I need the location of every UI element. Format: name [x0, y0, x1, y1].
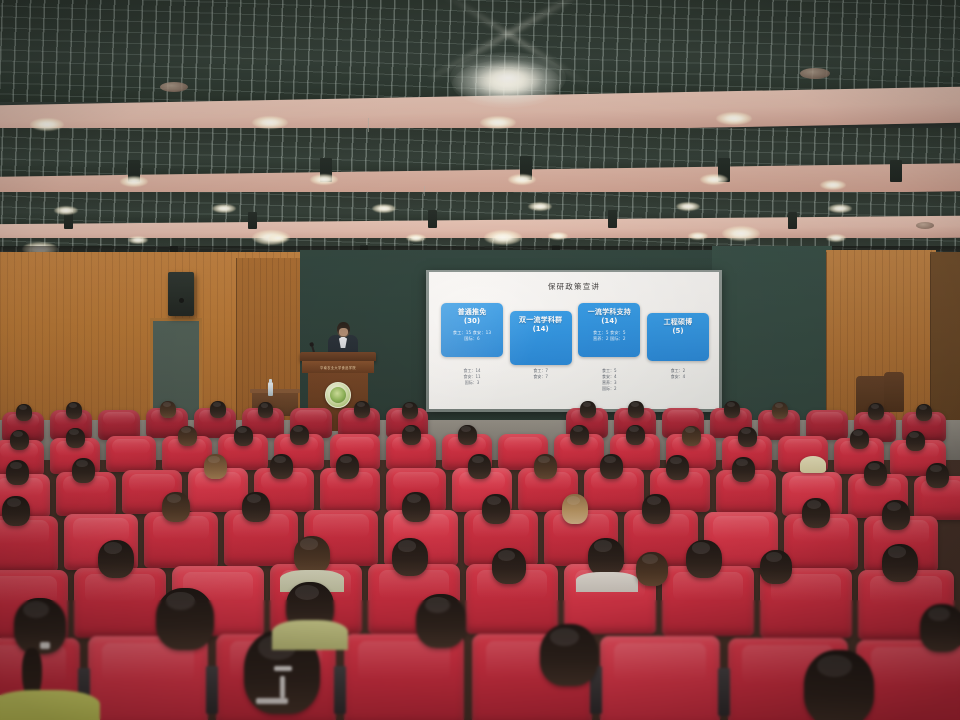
audience-head — [642, 494, 670, 524]
seat-armrest — [206, 666, 218, 714]
audience-head — [162, 492, 190, 522]
audience-head — [636, 552, 668, 586]
audience-head — [294, 536, 330, 574]
audience-head — [804, 650, 874, 720]
audience-head — [686, 540, 722, 578]
slide-box-detail: 食工：15 食安：13 国际：6 — [444, 330, 500, 342]
audience-head — [402, 402, 418, 419]
audience-head — [160, 401, 176, 418]
audience-head — [882, 544, 918, 582]
audience-head — [258, 402, 273, 418]
slide-box-yiliuzhichi: 一流学科支持 (14) 食工：5 食安：5 营养：2 国际：2 — [578, 303, 640, 357]
seat[interactable] — [600, 636, 720, 720]
seat[interactable] — [106, 436, 156, 472]
slide-box-title: 双一流学科群 — [513, 316, 569, 325]
audience-head — [920, 604, 960, 652]
audience-head — [402, 492, 430, 522]
slide-detail-3: 食工：5 食安：4 营养：3 国际：2 — [578, 368, 640, 392]
slide-box-row: 普通推免 (30) 食工：15 食安：13 国际：6 双一流学科群 (14) 一… — [441, 303, 709, 365]
audience-head — [72, 458, 95, 483]
slide-box-detail: 食工：5 食安：5 营养：2 国际：2 — [581, 330, 637, 342]
audience-head — [354, 401, 370, 418]
ceiling-vent-icon — [800, 68, 830, 79]
audience-head — [492, 548, 526, 584]
wall-mounted-loudspeaker — [168, 272, 194, 316]
audience-head — [626, 425, 645, 445]
ceiling-beam — [520, 156, 532, 180]
slide-detail-4: 食工：2 食安：4 — [647, 368, 709, 392]
audience-head — [600, 454, 623, 479]
audience-head — [6, 460, 29, 485]
pendant-stem — [424, 186, 425, 196]
seat[interactable] — [74, 568, 166, 638]
projection-screen: 保研政策宣讲 普通推免 (30) 食工：15 食安：13 国际：6 双一流学科群… — [429, 272, 719, 409]
audience-head — [392, 538, 428, 576]
slide-box-gongchengshuobo: 工程硕博 (5) — [647, 313, 709, 361]
audience-head — [628, 401, 644, 418]
podium-text: 华南农业大学食品学院 — [320, 365, 356, 370]
slide-box-title: 一流学科支持 — [581, 308, 637, 317]
audience-head — [772, 402, 788, 419]
audience-head — [732, 457, 755, 482]
audience-head — [850, 429, 869, 449]
projection-screen-frame: 保研政策宣讲 普通推免 (30) 食工：15 食安：13 国际：6 双一流学科群… — [426, 270, 722, 412]
ceiling-beam — [890, 160, 902, 182]
slide-box-shuangyiliu: 双一流学科群 (14) — [510, 311, 572, 365]
ceiling-beam — [608, 210, 617, 228]
audience-head — [882, 500, 910, 530]
audience-head — [540, 624, 598, 686]
slide-detail-1: 食工：14 食安：11 国际：3 — [441, 368, 503, 392]
ceiling-beam — [788, 212, 797, 229]
slide-box-title: 工程硕博 — [650, 318, 706, 327]
audience-seating — [0, 398, 960, 720]
audience-shoulders — [576, 572, 638, 592]
ceiling-vent-icon — [160, 82, 188, 92]
audience-head — [760, 550, 792, 584]
audience-head — [178, 426, 197, 446]
podium-top — [300, 352, 376, 361]
audience-head — [926, 463, 949, 488]
audience-head — [234, 426, 253, 446]
slide-box-count: (14) — [513, 325, 569, 334]
audience-head — [916, 404, 932, 421]
audience-head — [580, 401, 596, 418]
audience-head — [562, 494, 588, 524]
audience-head — [570, 425, 589, 445]
auditorium-photo: 保研政策宣讲 普通推免 (30) 食工：15 食安：13 国际：6 双一流学科群… — [0, 0, 960, 720]
ceiling-beam — [428, 210, 437, 228]
audience-head — [682, 426, 701, 446]
hair-clip — [274, 666, 292, 671]
hair-clip — [280, 676, 285, 698]
ceiling-main-light — [452, 60, 562, 108]
baseball-cap — [800, 456, 826, 473]
audience-head — [210, 401, 226, 418]
audience-head — [66, 428, 85, 448]
ceiling-beam — [320, 158, 332, 182]
audience-head — [906, 431, 925, 451]
audience-shoulders — [0, 690, 100, 720]
audience-head — [270, 454, 293, 479]
audience-head — [802, 498, 830, 528]
audience-head — [242, 492, 270, 522]
downlight — [252, 230, 290, 245]
slide-box-count: (30) — [444, 317, 500, 326]
audience-head — [98, 540, 134, 578]
audience-head — [666, 455, 689, 480]
seat-armrest — [718, 668, 730, 716]
presenter-face — [339, 328, 348, 336]
slide-title: 保研政策宣讲 — [429, 281, 719, 292]
hair-clip — [256, 698, 288, 704]
slide-box-count: (14) — [581, 317, 637, 326]
audience-head — [868, 403, 884, 420]
audience-head — [336, 454, 359, 479]
pendant-stem — [368, 118, 369, 132]
ceiling-beam — [718, 158, 730, 182]
audience-head — [204, 454, 227, 479]
hair-clip — [40, 642, 50, 649]
audience-head — [10, 430, 29, 450]
ceiling-beam — [248, 212, 257, 229]
podium-nameplate: 华南农业大学食品学院 — [302, 361, 374, 373]
slide-detail-2: 食工：7 食安：7 — [510, 368, 572, 392]
ceiling-vent-icon — [916, 222, 934, 229]
audience-head — [482, 494, 510, 524]
audience-head — [66, 402, 82, 419]
audience-head — [2, 496, 30, 526]
downlight — [484, 230, 522, 245]
audience-head — [738, 427, 757, 447]
water-bottle — [268, 382, 273, 396]
audience-head — [458, 425, 477, 445]
audience-shoulders — [272, 620, 348, 650]
slide-box-putui: 普通推免 (30) 食工：15 食安：13 国际：6 — [441, 303, 503, 357]
slide-box-title: 普通推免 — [444, 308, 500, 317]
slide-box-count: (5) — [650, 327, 706, 336]
audience-head — [16, 404, 32, 421]
downlight — [722, 226, 760, 241]
audience-head — [534, 454, 557, 479]
audience-head — [402, 425, 421, 445]
ceiling-beam — [128, 160, 140, 182]
audience-head — [290, 425, 309, 445]
slide-detail-row: 食工：14 食安：11 国际：3 食工：7 食安：7 食工：5 食安：4 营养：… — [441, 368, 709, 392]
audience-head — [724, 401, 740, 418]
audience-head — [468, 454, 491, 479]
ceiling — [0, 0, 960, 268]
audience-head — [588, 538, 624, 576]
audience-head — [864, 461, 887, 486]
seat-armrest — [334, 666, 346, 714]
audience-head — [416, 594, 466, 648]
ceiling-beam — [64, 212, 73, 229]
audience-head — [156, 588, 214, 650]
